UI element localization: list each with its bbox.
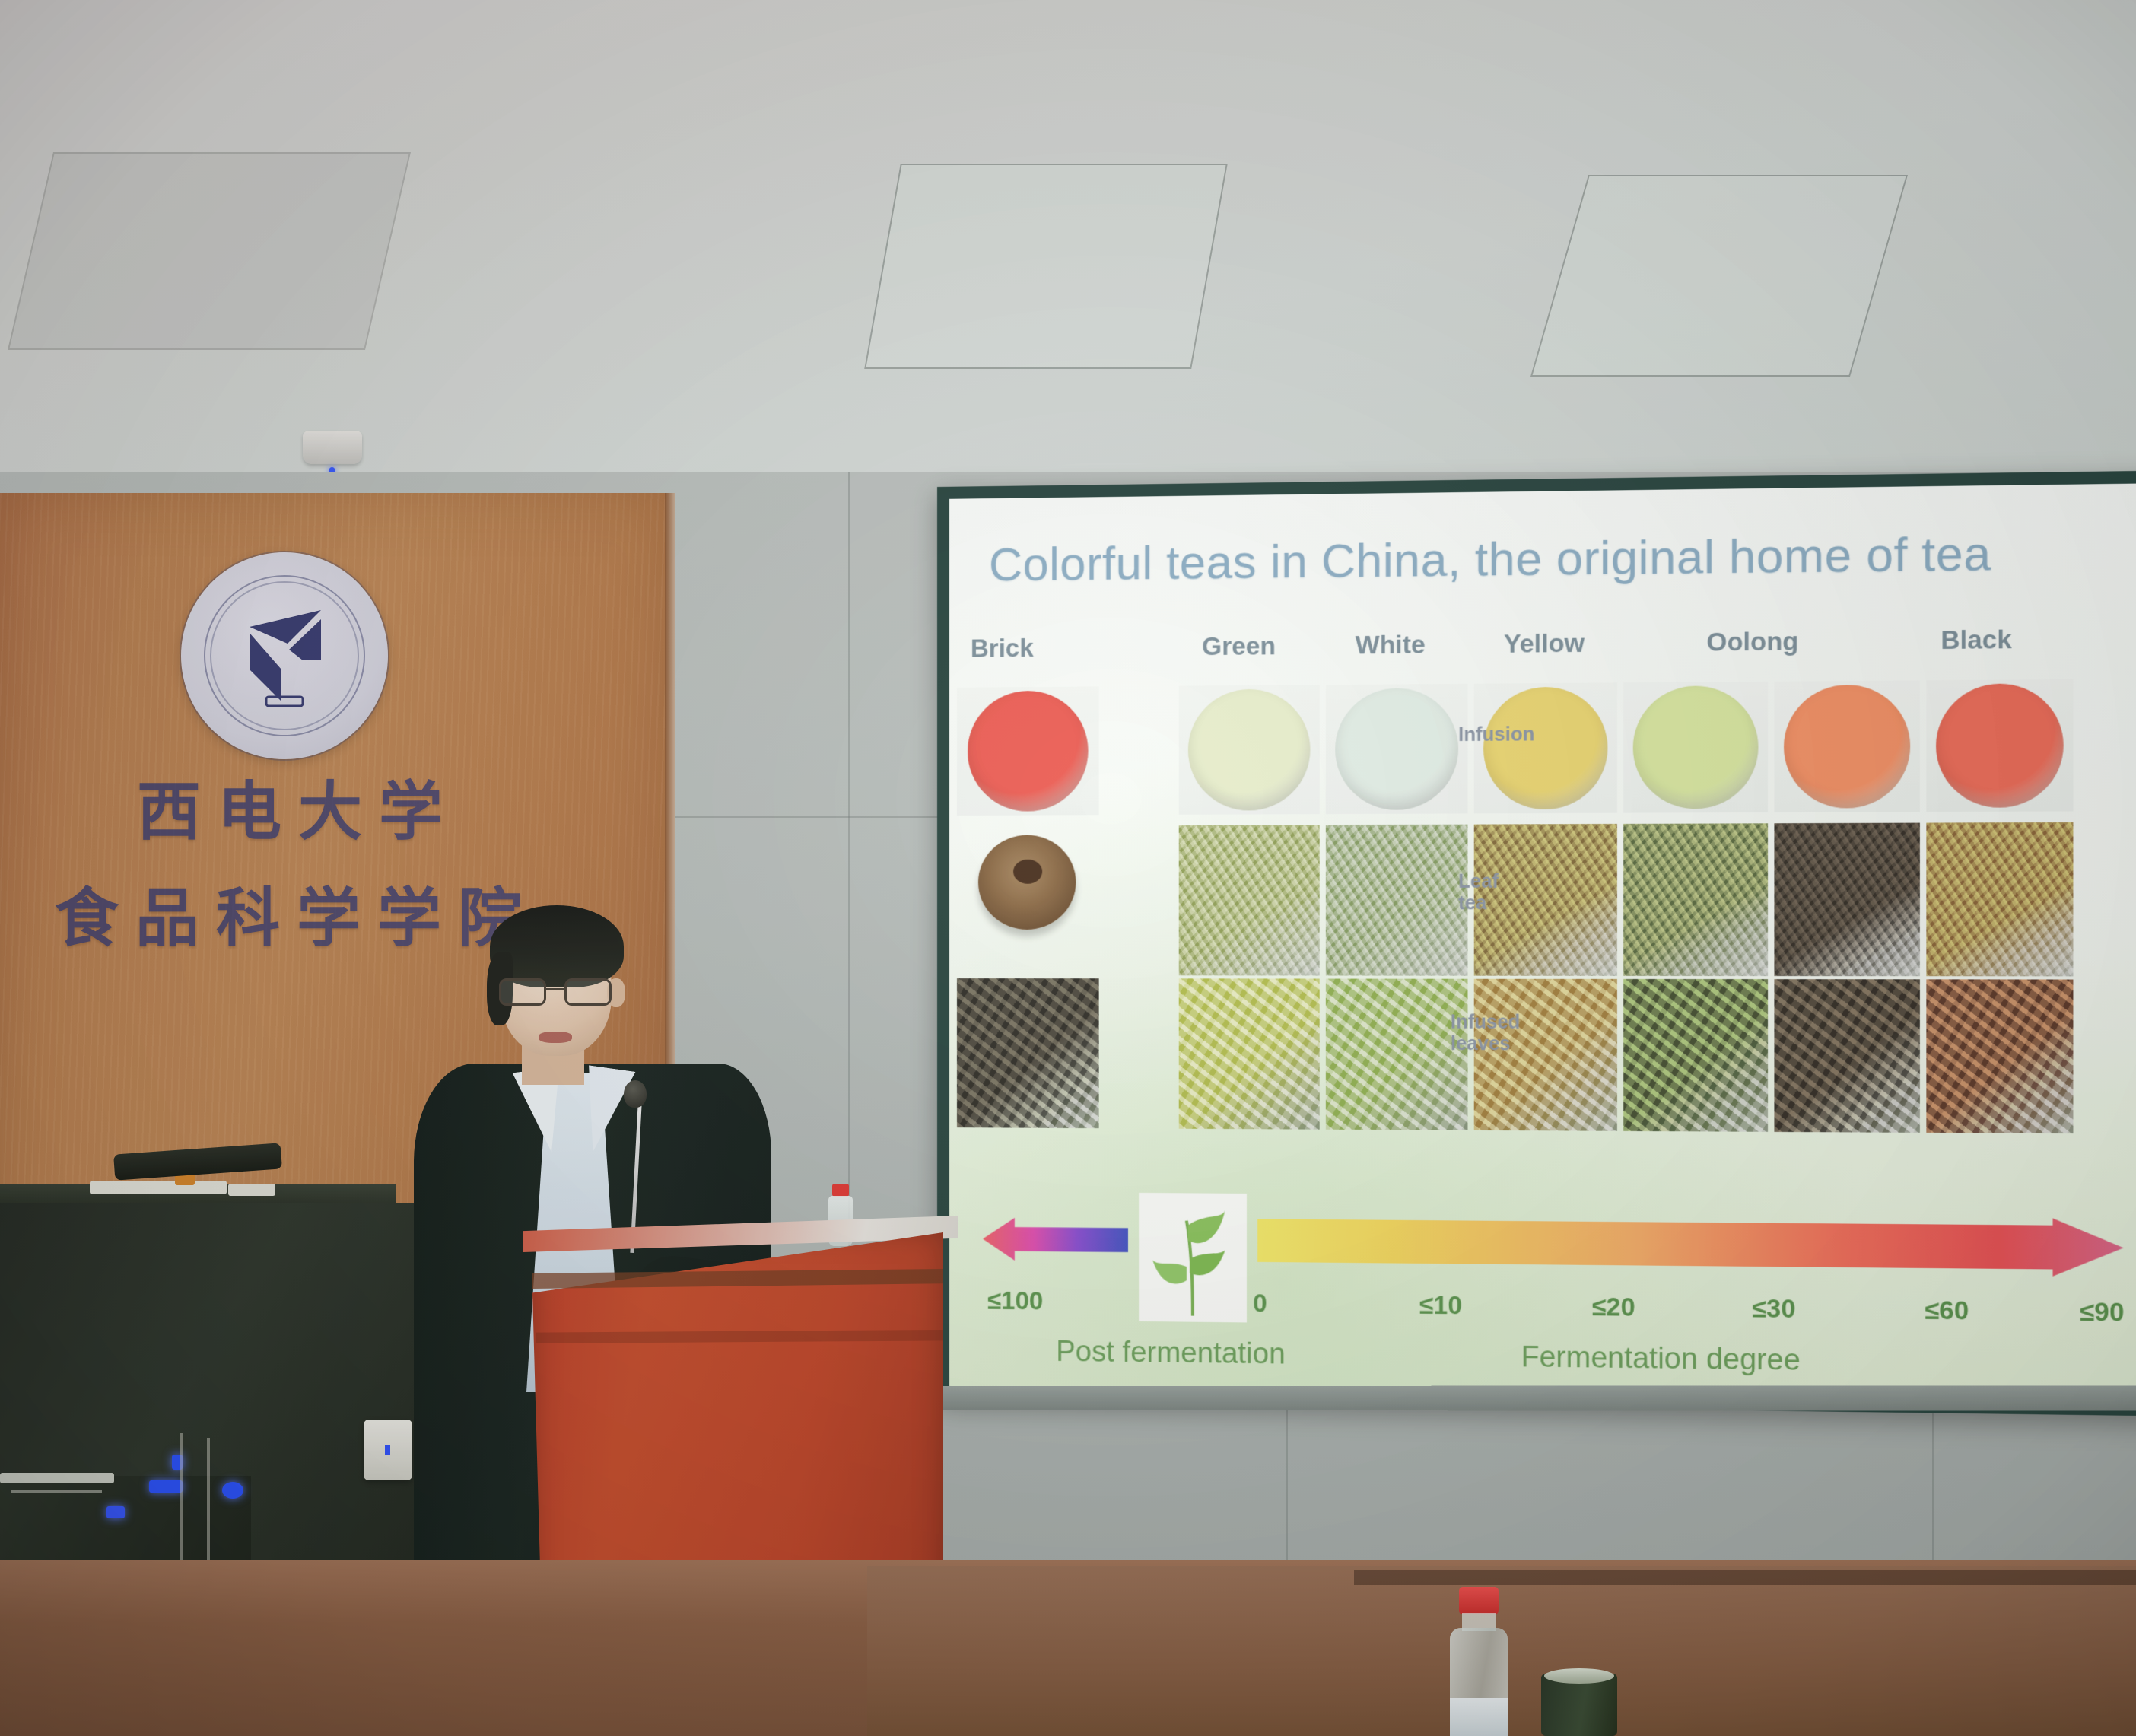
scale-tick-5: ≤60	[1925, 1296, 1969, 1326]
row-label-leaf-tea: Leaf tea	[1458, 870, 1499, 914]
scale-tick-0: ≤100	[987, 1286, 1043, 1316]
water-bottle-foreground	[1445, 1587, 1511, 1736]
column-header-brick: Brick	[971, 634, 1034, 663]
scale-tick-6: ≤90	[2080, 1297, 2125, 1327]
fermentation-scale: ≤1000≤10≤20≤30≤60≤90 Post fermentation F…	[949, 1196, 2136, 1402]
wall-text-university: 西电大学	[137, 761, 459, 853]
scale-caption-fermentation-degree: Fermentation degree	[1521, 1341, 1801, 1378]
infusion-circle-white	[1335, 688, 1458, 810]
glasses-lens-left	[499, 978, 546, 1006]
column-header-white: White	[1356, 630, 1426, 660]
cable	[11, 1490, 102, 1508]
cup-rim	[1544, 1668, 1614, 1684]
column-header-black: Black	[1941, 625, 2011, 655]
scale-tick-2: ≤10	[1419, 1290, 1462, 1320]
ceiling	[0, 0, 2136, 487]
infusion-circle-oolong	[1633, 685, 1759, 809]
av-white-device	[90, 1181, 227, 1194]
tea-brick-disc	[978, 835, 1076, 930]
infused-leaves-sample-white	[1326, 979, 1468, 1130]
led-indicator	[106, 1506, 125, 1518]
university-emblem	[181, 552, 388, 759]
tea-leaf-card	[1139, 1193, 1247, 1323]
infused-leaves-sample-brick	[957, 978, 1099, 1128]
wall-box-led	[385, 1445, 390, 1455]
wall-seam	[1932, 1400, 1934, 1575]
tea-cup-foreground	[1541, 1674, 1617, 1736]
projection-screen-bottom-bar	[905, 1385, 2136, 1410]
column-headers: BrickGreenWhiteYellowOolongBlack	[949, 483, 2136, 499]
wall-seam	[1286, 1400, 1288, 1575]
ceiling-panel-2	[864, 164, 1228, 369]
table-edge	[1354, 1570, 2136, 1585]
lecture-hall-scene: 西电大学 食品科学学院 Colorful teas in China, the …	[0, 0, 2136, 1736]
post-fermentation-arrow-icon	[983, 1217, 1128, 1261]
podium-microphone	[624, 1080, 647, 1108]
column-header-oolong: Oolong	[1707, 627, 1799, 657]
infusion-circle-brick	[968, 691, 1089, 812]
tea-leaf-icon	[1139, 1193, 1247, 1323]
infused-leaves-sample-green	[1179, 978, 1320, 1129]
scale-ticks: ≤1000≤10≤20≤30≤60≤90	[949, 1196, 2136, 1205]
row-label-infusion: Infusion	[1458, 723, 1534, 746]
led-indicator	[149, 1480, 183, 1493]
leaf-tea-sample-green	[1179, 825, 1320, 975]
ceiling-panel-3	[1530, 175, 1908, 377]
bottle-cap	[1459, 1587, 1499, 1614]
projection-screen[interactable]: Colorful teas in China, the original hom…	[949, 483, 2136, 1402]
glasses-lens-right	[564, 978, 612, 1006]
glasses-bridge	[546, 988, 566, 990]
infused-leaves-sample-oolong2	[1774, 979, 1919, 1133]
row-label-infused-leaves: Infused leaves	[1451, 1011, 1521, 1054]
emblem-arrow-icon	[236, 596, 335, 711]
infusion-circle-yellow	[1483, 687, 1607, 810]
presenter-mouth	[539, 1032, 572, 1043]
column-header-yellow: Yellow	[1504, 628, 1585, 659]
presenter-glasses	[497, 978, 618, 1009]
infused-leaves-sample-yellow	[1474, 979, 1617, 1131]
slide-title: Colorful teas in China, the original hom…	[989, 526, 1991, 592]
scale-tick-1: 0	[1253, 1289, 1267, 1318]
infused-leaves-sample-black	[1926, 979, 2073, 1133]
av-light-bar	[0, 1473, 114, 1483]
fermentation-degree-arrow-icon	[1257, 1212, 2123, 1277]
leaf-tea-sample-black	[1926, 822, 2073, 976]
ceiling-panel-1	[8, 152, 411, 350]
smoke-detector-icon	[303, 431, 362, 464]
tea-grid	[949, 483, 2136, 499]
infusion-circle-oolong2	[1784, 685, 1910, 809]
av-white-device	[228, 1184, 275, 1196]
projection-screen-frame: Colorful teas in China, the original hom…	[937, 470, 2136, 1416]
scale-tick-4: ≤30	[1752, 1294, 1795, 1324]
infusion-circle-green	[1188, 688, 1311, 810]
infused-leaves-sample-oolong	[1623, 979, 1768, 1132]
bottle-cap	[832, 1184, 849, 1197]
scale-caption-post-fermentation: Post fermentation	[1056, 1336, 1285, 1372]
leaf-tea-sample-oolong	[1623, 823, 1768, 976]
leaf-tea-sample-oolong2	[1774, 823, 1919, 977]
leaf-tea-sample-white	[1326, 825, 1468, 976]
scale-tick-3: ≤20	[1592, 1292, 1635, 1322]
bottle-label	[1450, 1698, 1508, 1736]
column-header-green: Green	[1202, 631, 1276, 661]
infusion-circle-black	[1936, 683, 2064, 808]
presentation-slide: Colorful teas in China, the original hom…	[949, 483, 2136, 1402]
